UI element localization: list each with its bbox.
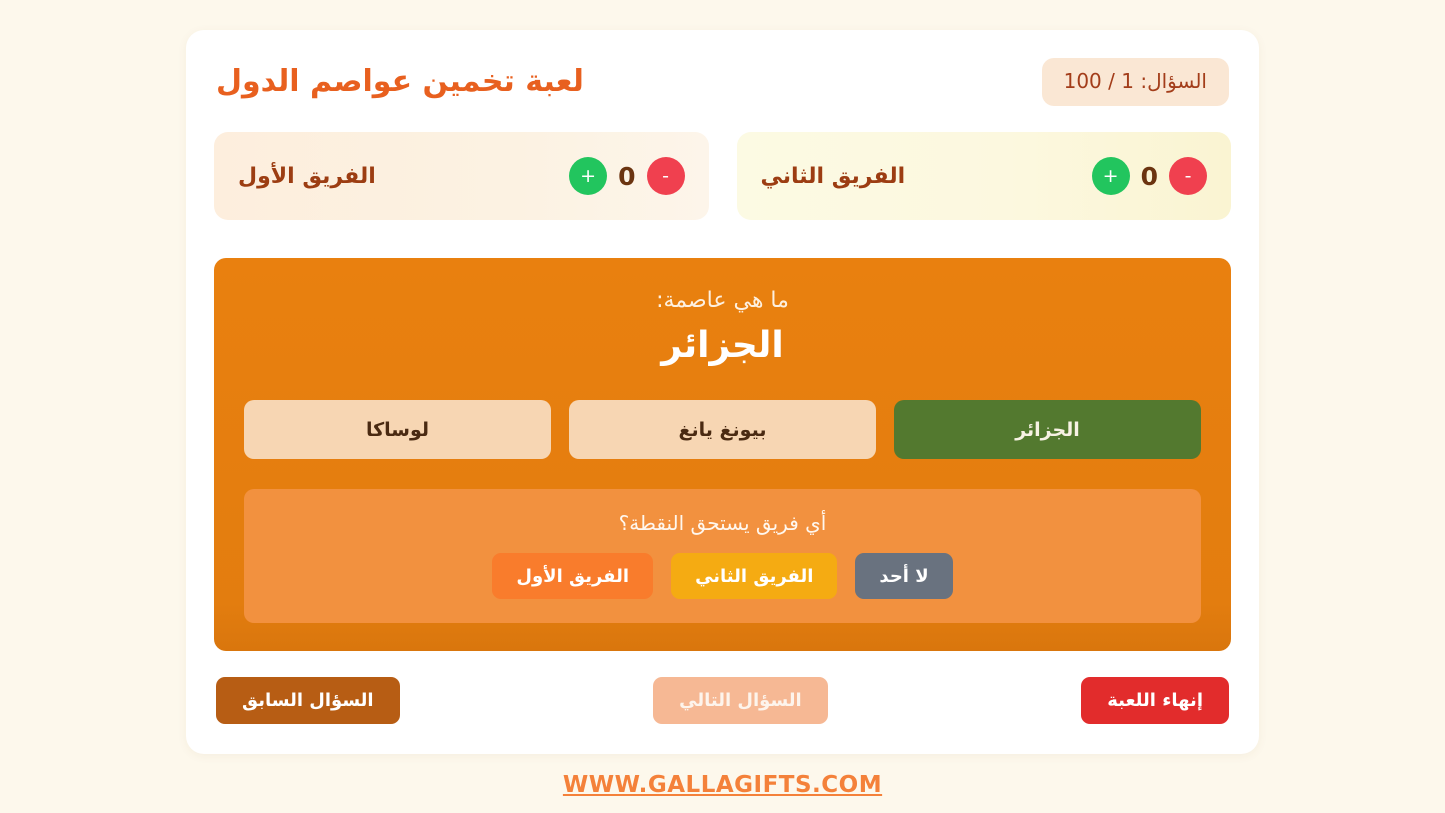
team-one-score-controls: + 0 - xyxy=(569,157,684,195)
award-none-button[interactable]: لا أحد xyxy=(855,553,952,599)
answer-option-1[interactable]: لوساكا xyxy=(244,400,551,459)
footer-website-link[interactable]: WWW.GALLAGIFTS.COM xyxy=(563,772,882,798)
award-team-two-button[interactable]: الفريق الثاني xyxy=(671,553,837,599)
previous-question-button[interactable]: السؤال السابق xyxy=(216,677,400,724)
team-one-increment-button[interactable]: + xyxy=(569,157,607,195)
team-two-increment-button[interactable]: + xyxy=(1092,157,1130,195)
answer-option-3-correct[interactable]: الجزائر xyxy=(894,400,1201,459)
game-card: لعبة تخمين عواصم الدول السؤال: 1 / 100 ا… xyxy=(186,30,1259,754)
team-panel-one: الفريق الأول + 0 - xyxy=(214,132,709,220)
team-two-decrement-button[interactable]: - xyxy=(1169,157,1207,195)
card-header: لعبة تخمين عواصم الدول السؤال: 1 / 100 xyxy=(214,58,1231,106)
team-scoreboards: الفريق الأول + 0 - الفريق الثاني + 0 - xyxy=(214,132,1231,220)
question-counter-badge: السؤال: 1 / 100 xyxy=(1042,58,1229,106)
page-title: لعبة تخمين عواصم الدول xyxy=(216,64,584,100)
team-two-score: 0 xyxy=(1141,162,1158,191)
page-root: لعبة تخمين عواصم الدول السؤال: 1 / 100 ا… xyxy=(0,0,1445,813)
navigation-row: السؤال السابق السؤال التالي إنهاء اللعبة xyxy=(214,677,1231,724)
award-point-panel: أي فريق يستحق النقطة؟ الفريق الأول الفري… xyxy=(244,489,1201,623)
award-team-one-button[interactable]: الفريق الأول xyxy=(492,553,653,599)
end-game-button[interactable]: إنهاء اللعبة xyxy=(1081,677,1229,724)
footer: WWW.GALLAGIFTS.COM xyxy=(563,772,882,798)
team-two-score-controls: + 0 - xyxy=(1092,157,1207,195)
answer-option-2[interactable]: بيونغ يانغ xyxy=(569,400,876,459)
team-two-label: الفريق الثاني xyxy=(761,164,906,189)
team-one-label: الفريق الأول xyxy=(238,164,376,189)
question-panel: ما هي عاصمة: الجزائر لوساكا بيونغ يانغ ا… xyxy=(214,258,1231,651)
question-country: الجزائر xyxy=(244,325,1201,366)
team-one-decrement-button[interactable]: - xyxy=(647,157,685,195)
question-prompt: ما هي عاصمة: xyxy=(244,288,1201,313)
award-prompt: أي فريق يستحق النقطة؟ xyxy=(264,511,1181,535)
team-one-score: 0 xyxy=(618,162,635,191)
next-question-button[interactable]: السؤال التالي xyxy=(653,677,828,724)
award-buttons: الفريق الأول الفريق الثاني لا أحد xyxy=(264,553,1181,599)
team-panel-two: الفريق الثاني + 0 - xyxy=(737,132,1232,220)
answer-options: لوساكا بيونغ يانغ الجزائر xyxy=(244,400,1201,459)
